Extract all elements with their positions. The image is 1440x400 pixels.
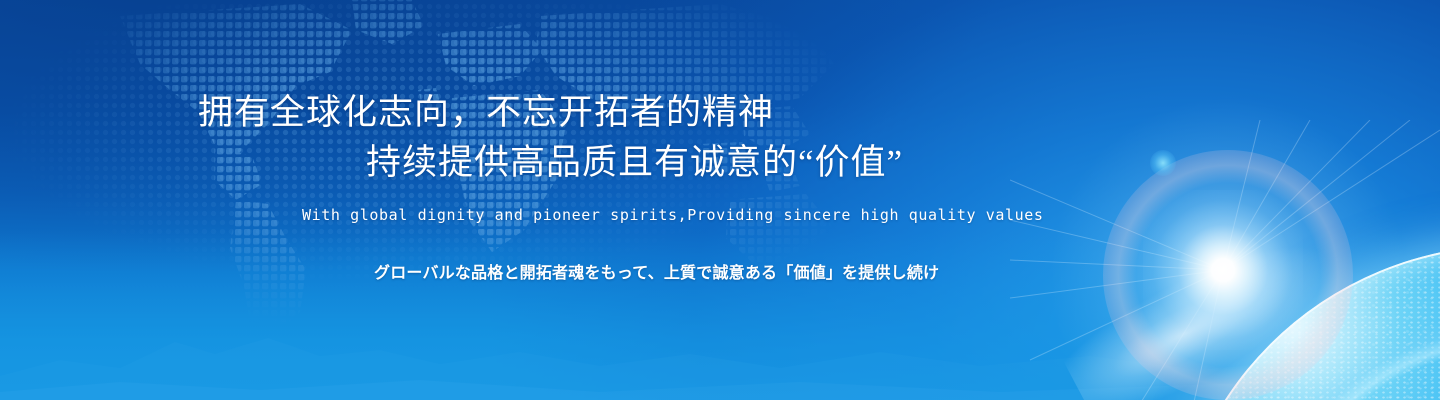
- subheadline-japanese: グローバルな品格と開拓者魂をもって、上質で誠意ある「価値」を提供し続け: [374, 259, 939, 283]
- slogan-text-block: 拥有全球化志向，不忘开拓者的精神 持续提供高品质且有诚意的“价值” With g…: [0, 0, 1440, 400]
- headline-line-1: 拥有全球化志向，不忘开拓者的精神: [198, 93, 774, 132]
- headline: 拥有全球化志向，不忘开拓者的精神 持续提供高品质且有诚意的“价值”: [198, 88, 903, 188]
- headline-line-2: 持续提供高品质且有诚意的“价值”: [198, 138, 903, 188]
- subheadline-english: With global dignity and pioneer spirits,…: [302, 206, 1044, 224]
- hero-banner: 拥有全球化志向，不忘开拓者的精神 持续提供高品质且有诚意的“价值” With g…: [0, 0, 1440, 400]
